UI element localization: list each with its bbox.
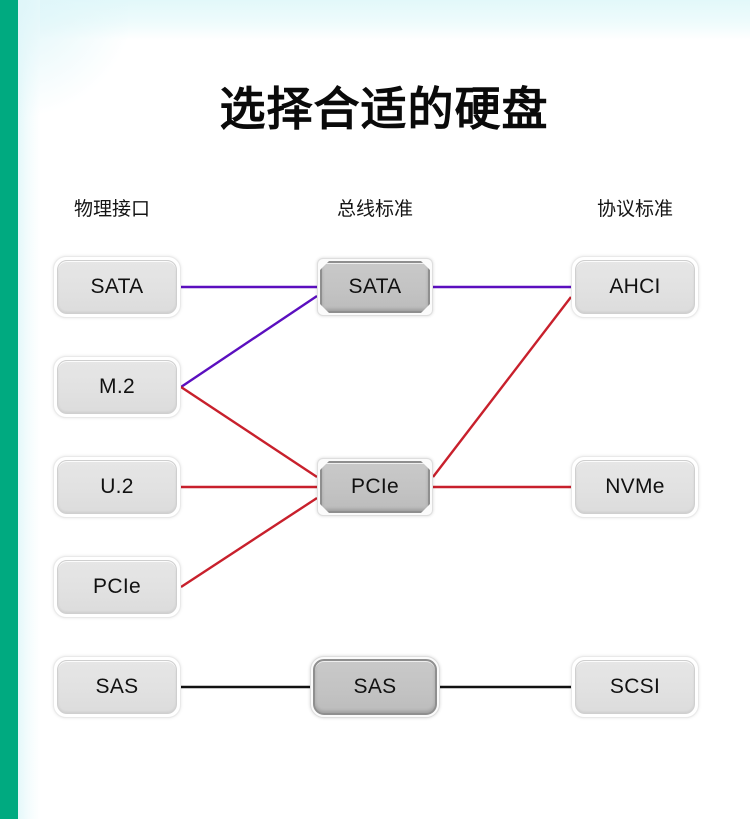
node-physical-sata[interactable]: SATA bbox=[53, 256, 181, 318]
node-label: SAS bbox=[96, 675, 139, 699]
column-header-physical-interface: 物理接口 bbox=[22, 194, 202, 221]
node-protocol-ahci[interactable]: AHCI bbox=[571, 256, 699, 318]
accent-bar bbox=[0, 0, 18, 819]
link-bpcie-ahci bbox=[433, 297, 571, 477]
link-m2-sata bbox=[181, 296, 317, 387]
node-label: SATA bbox=[349, 275, 402, 299]
node-label: U.2 bbox=[100, 475, 134, 499]
diagram-page: 选择合适的硬盘 物理接口 总线标准 协议标准 SATA M.2 U.2 PCIe… bbox=[0, 0, 750, 819]
node-protocol-scsi[interactable]: SCSI bbox=[571, 656, 699, 718]
node-label: PCIe bbox=[351, 475, 399, 499]
node-bus-sas[interactable]: SAS bbox=[310, 656, 440, 718]
node-physical-sas[interactable]: SAS bbox=[53, 656, 181, 718]
page-title: 选择合适的硬盘 bbox=[18, 82, 750, 136]
node-label: NVMe bbox=[605, 475, 665, 499]
node-bus-pcie[interactable]: PCIe bbox=[317, 458, 433, 516]
node-label: M.2 bbox=[99, 375, 135, 399]
node-label: SCSI bbox=[610, 675, 660, 699]
node-label: PCIe bbox=[93, 575, 141, 599]
column-header-protocol-standard: 协议标准 bbox=[545, 194, 725, 221]
link-pcie-pcie bbox=[181, 498, 317, 587]
node-physical-pcie[interactable]: PCIe bbox=[53, 556, 181, 618]
node-physical-m2[interactable]: M.2 bbox=[53, 356, 181, 418]
node-physical-u2[interactable]: U.2 bbox=[53, 456, 181, 518]
node-label: SAS bbox=[354, 675, 397, 699]
link-m2-pcie bbox=[181, 387, 317, 477]
column-header-bus-standard: 总线标准 bbox=[285, 194, 465, 221]
node-label: SATA bbox=[91, 275, 144, 299]
node-protocol-nvme[interactable]: NVMe bbox=[571, 456, 699, 518]
node-label: AHCI bbox=[609, 275, 660, 299]
node-bus-sata[interactable]: SATA bbox=[317, 258, 433, 316]
